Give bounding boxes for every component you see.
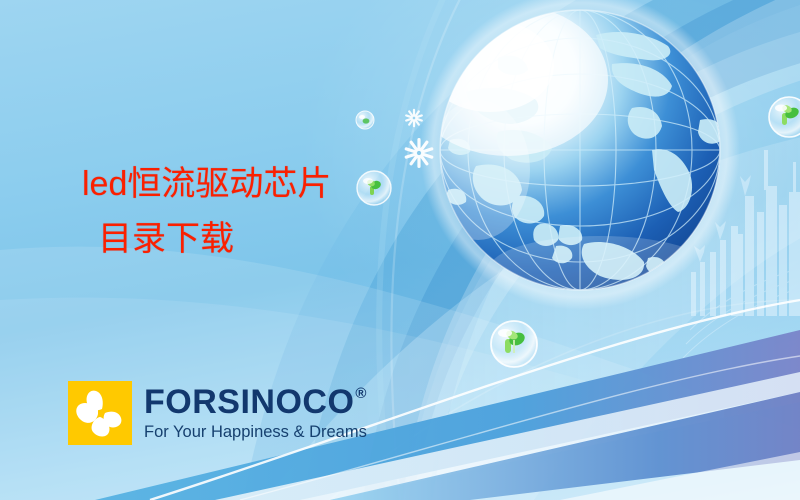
sparkle-star-1: [404, 138, 434, 168]
headline-line-1: led恒流驱动芯片: [82, 166, 422, 203]
logo-wordmark-text: FORSINOCO: [144, 385, 354, 419]
company-logo: FORSINOCO ® For Your Happiness & Dreams: [68, 381, 367, 445]
city-skyline-silhouette: [683, 150, 800, 358]
logo-wordmark: FORSINOCO ®: [144, 385, 367, 419]
bubble-sprout-2: [491, 321, 537, 367]
promo-banner: led恒流驱动芯片 目录下载 FORSINOCO ® For Your Happ…: [0, 0, 800, 500]
continents: [446, 32, 723, 280]
headline: led恒流驱动芯片 目录下载: [82, 166, 422, 257]
bubble-sprout-4: [356, 111, 374, 129]
globe-grid: [440, 10, 720, 290]
headline-line-2: 目录下载: [98, 221, 422, 258]
earth-globe: [408, 0, 740, 310]
sparkle-star-2: [405, 109, 423, 128]
bubble-sprout-3: [769, 97, 800, 137]
pinwheel-icon: [68, 381, 132, 445]
logo-tagline: For Your Happiness & Dreams: [144, 424, 367, 441]
sprout-icon: [781, 104, 800, 125]
registered-trademark-symbol: ®: [355, 386, 367, 401]
logo-text-block: FORSINOCO ® For Your Happiness & Dreams: [144, 385, 367, 441]
sprout-icon: [505, 329, 527, 353]
forsinoco-pinwheel-mark: [68, 381, 132, 445]
